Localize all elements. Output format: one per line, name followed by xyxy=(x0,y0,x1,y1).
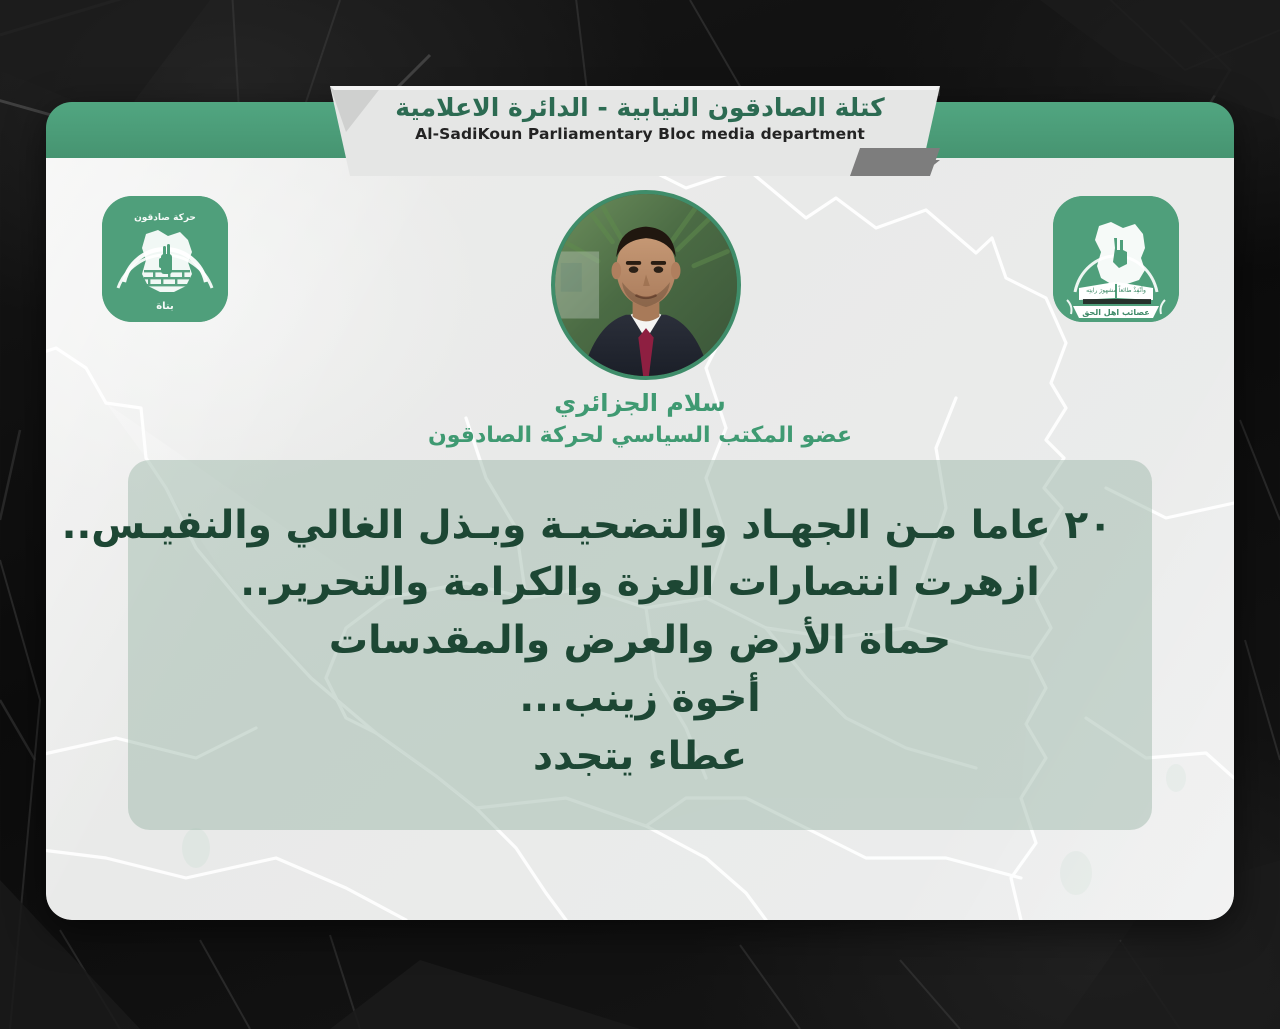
quote-panel: ٢٠ عاما مـن الجهـاد والتضحيـة وبـذل الغا… xyxy=(128,460,1152,830)
person-name: سلام الجزائري xyxy=(0,388,1280,418)
person-info: سلام الجزائري عضو المكتب السياسي لحركة ا… xyxy=(0,388,1280,451)
quote-line: أخوة زينب... xyxy=(168,670,1112,728)
svg-text:وأنْفِذْ طائعاً مشهورَ رايتِه: وأنْفِذْ طائعاً مشهورَ رايتِه xyxy=(1086,286,1146,294)
person-portrait xyxy=(551,190,741,380)
svg-text:عصائب اهل الحق: عصائب اهل الحق xyxy=(1082,308,1150,317)
person-role: عضو المكتب السياسي لحركة الصادقون xyxy=(0,422,1280,451)
quote-line: حماة الأرض والعرض والمقدسات xyxy=(168,612,1112,670)
quote-line: ازهرت انتصارات العزة والكرامة والتحرير.. xyxy=(168,554,1112,612)
quote-line: عطاء يتجدد xyxy=(168,728,1112,786)
quote-line: ٢٠ عاما مـن الجهـاد والتضحيـة وبـذل الغا… xyxy=(168,497,1112,555)
sadiqoun-movement-logo: حماة حركة صادقون بناة xyxy=(102,196,228,322)
header-ribbon xyxy=(330,86,940,176)
asaib-ahl-alhaq-logo: عصائب اهل الحق وأنْفِذْ طائعاً مشهورَ را… xyxy=(1053,196,1179,322)
svg-text:بناة: بناة xyxy=(156,301,174,312)
svg-text:حركة صادقون: حركة صادقون xyxy=(134,213,196,223)
poster-canvas: كتلة الصادقون النيابية - الدائرة الاعلام… xyxy=(0,0,1280,1029)
